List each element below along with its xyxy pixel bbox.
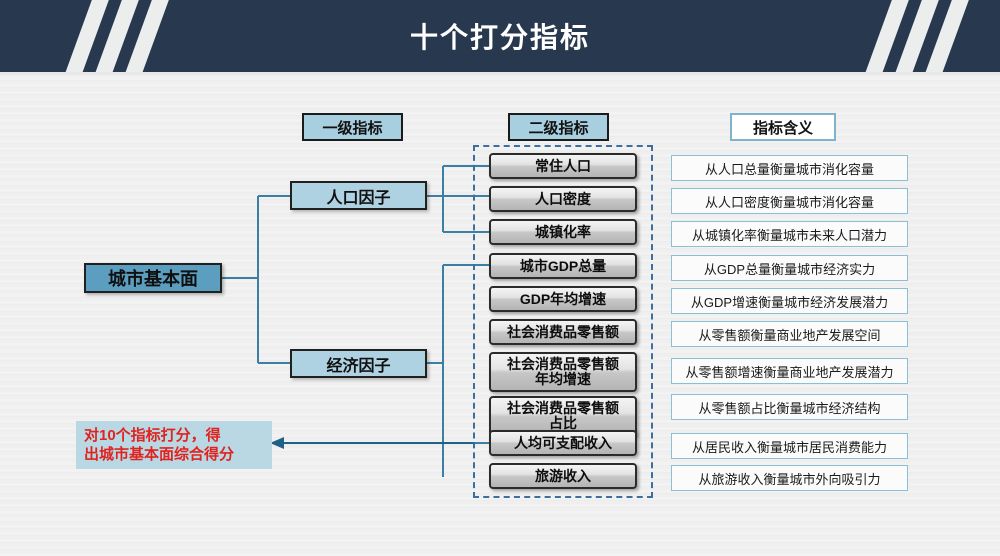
description-box-8: 从零售额占比衡量城市经济结构: [671, 394, 908, 420]
description-box-10: 从旅游收入衡量城市外向吸引力: [671, 465, 908, 491]
metric-box-6: 社会消费品零售额: [489, 319, 637, 345]
metric-box-3: 城镇化率: [489, 219, 637, 245]
column-header-primary: 一级指标: [302, 113, 403, 141]
callout-note: 对10个指标打分，得 出城市基本面综合得分: [76, 421, 272, 469]
column-header-secondary: 二级指标: [508, 113, 609, 141]
description-box-7: 从零售额增速衡量商业地产发展潜力: [671, 358, 908, 384]
metric-box-9: 人均可支配收入: [489, 430, 637, 456]
page-title: 十个打分指标: [0, 0, 1000, 72]
metric-box-7: 社会消费品零售额 年均增速: [489, 352, 637, 392]
description-box-4: 从GDP总量衡量城市经济实力: [671, 255, 908, 281]
metric-box-5: GDP年均增速: [489, 286, 637, 312]
callout-line-2: 出城市基本面综合得分: [84, 445, 234, 465]
metric-box-2: 人口密度: [489, 186, 637, 212]
column-header-meaning: 指标含义: [730, 113, 836, 141]
description-box-5: 从GDP增速衡量城市经济发展潜力: [671, 288, 908, 314]
description-box-3: 从城镇化率衡量城市未来人口潜力: [671, 221, 908, 247]
metric-box-1: 常住人口: [489, 153, 637, 179]
factor-node-economy: 经济因子: [290, 349, 427, 378]
description-box-6: 从零售额衡量商业地产发展空间: [671, 321, 908, 347]
header-underline: [0, 72, 1000, 75]
metric-box-10: 旅游收入: [489, 463, 637, 489]
description-box-1: 从人口总量衡量城市消化容量: [671, 155, 908, 181]
description-box-2: 从人口密度衡量城市消化容量: [671, 188, 908, 214]
factor-node-population: 人口因子: [290, 181, 427, 210]
description-box-9: 从居民收入衡量城市居民消费能力: [671, 433, 908, 459]
metric-box-4: 城市GDP总量: [489, 253, 637, 279]
root-node-city-fundamentals: 城市基本面: [84, 263, 222, 293]
callout-line-1: 对10个指标打分，得: [84, 426, 221, 446]
page-header: 十个打分指标: [0, 0, 1000, 72]
